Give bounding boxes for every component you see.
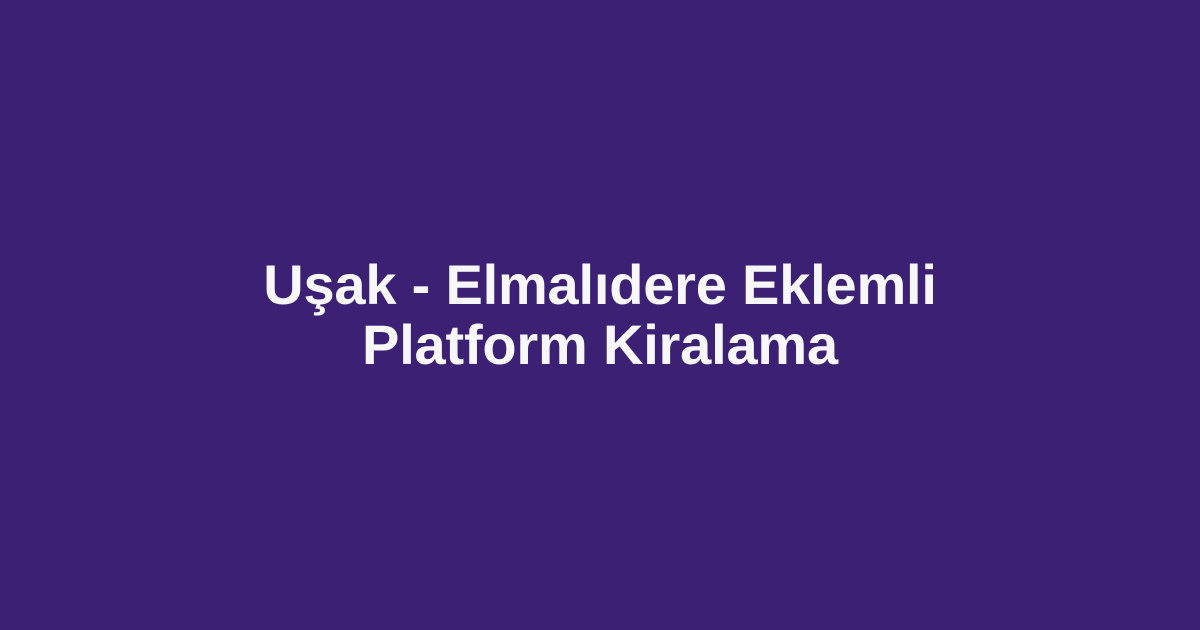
share-card: Uşak - Elmalıdere Eklemli Platform Kiral… — [0, 0, 1200, 630]
page-title: Uşak - Elmalıdere Eklemli Platform Kiral… — [150, 255, 1050, 375]
